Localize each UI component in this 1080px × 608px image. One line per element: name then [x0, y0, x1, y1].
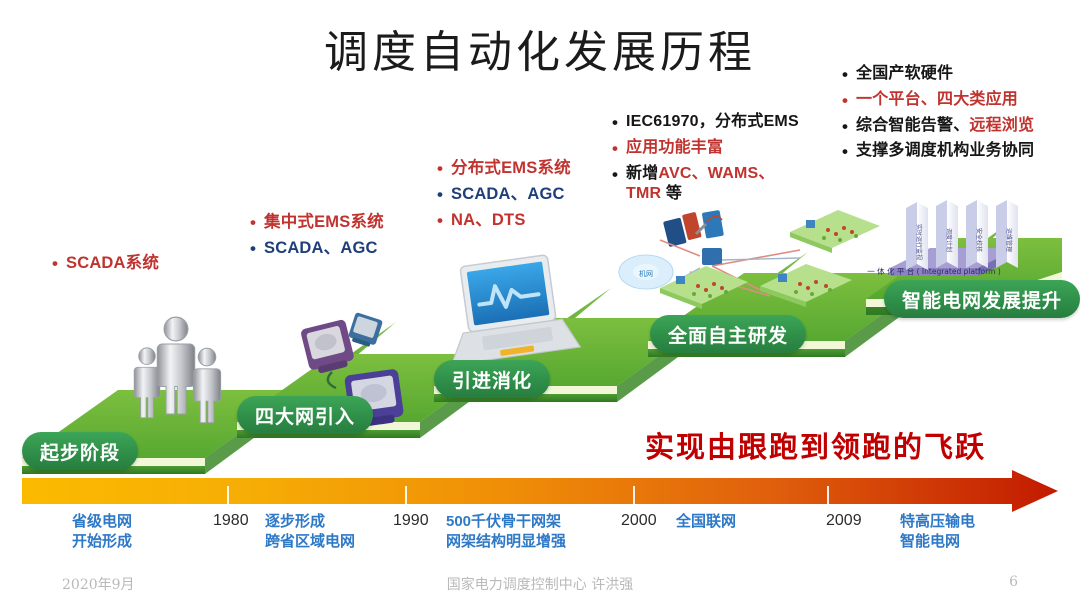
- timeline-caption-line: 网架结构明显增强: [446, 532, 566, 552]
- bullet-row: • 新增AVC、WAMS、TMR 等: [612, 164, 799, 205]
- slide-canvas: 调度自动化发展历程: [0, 0, 1080, 608]
- bullet-text-part: TMR: [626, 185, 666, 202]
- bullet-text: NA、DTS: [451, 210, 526, 231]
- bullet-text-part: 新增: [626, 165, 658, 182]
- bullet-dot: •: [842, 90, 856, 112]
- bullet-row: • SCADA系统: [52, 253, 159, 275]
- footer-org: 国家电力调度控制中心 许洪强: [0, 574, 1080, 594]
- bullet-text: SCADA、AGC: [264, 238, 378, 259]
- bullet-group-1: • SCADA系统: [52, 253, 159, 279]
- timeline-caption-5: 特高压输电 智能电网: [900, 512, 975, 553]
- stage-label-3[interactable]: 引进消化: [434, 360, 550, 398]
- stage-label-4[interactable]: 全面自主研发: [650, 315, 806, 353]
- bullet-text-part: 综合智能告警、: [856, 117, 969, 134]
- people-illustration: [134, 317, 221, 423]
- stage-label-2[interactable]: 四大网引入: [237, 396, 373, 434]
- stage-label-1[interactable]: 起步阶段: [22, 432, 138, 470]
- bullet-dot: •: [250, 212, 264, 234]
- bullet-text: 集中式EMS系统: [264, 212, 384, 233]
- slogan-text: 实现由跟跑到领跑的飞跃: [645, 424, 986, 466]
- bullet-row: • 集中式EMS系统: [250, 212, 384, 234]
- bullet-text: 一个平台、四大类应用: [856, 90, 1018, 110]
- svg-text:运维管理: 运维管理: [1005, 228, 1013, 252]
- timeline-caption-line: 省级电网: [72, 512, 132, 532]
- bullet-row: • 一个平台、四大类应用: [842, 90, 1034, 112]
- bullet-dot: •: [842, 64, 856, 86]
- bullet-row: • NA、DTS: [437, 210, 571, 232]
- bullet-row: • 全国产软硬件: [842, 64, 1034, 86]
- bullet-dot: •: [437, 184, 451, 206]
- bullet-text-part: 等: [666, 185, 682, 202]
- bullet-text-part: AVC、WAMS、: [658, 165, 774, 182]
- bullet-row: • IEC61970，分布式EMS: [612, 112, 799, 134]
- timeline-caption-line: 跨省区域电网: [265, 532, 355, 552]
- bullet-text: 支撑多调度机构业务协同: [856, 141, 1034, 161]
- bullet-group-4: • IEC61970，分布式EMS • 应用功能丰富 • 新增AVC、WAMS、…: [612, 112, 799, 208]
- bullet-group-5: • 全国产软硬件 • 一个平台、四大类应用 • 综合智能告警、远程浏览 • 支撑…: [842, 64, 1034, 167]
- svg-text:调度计划: 调度计划: [945, 228, 953, 252]
- svg-text:机网: 机网: [639, 269, 653, 278]
- timeline-caption-2: 逐步形成 跨省区域电网: [265, 512, 355, 553]
- timeline-caption-line: 特高压输电: [900, 512, 975, 532]
- bullet-row: • 综合智能告警、远程浏览: [842, 116, 1034, 138]
- bullet-dot: •: [612, 112, 626, 134]
- bullet-text: 全国产软硬件: [856, 64, 953, 84]
- timeline-caption-line: 智能电网: [900, 532, 975, 552]
- bullet-text: 应用功能丰富: [626, 138, 723, 158]
- bullet-dot: •: [842, 116, 856, 138]
- bullet-row: • 支撑多调度机构业务协同: [842, 141, 1034, 163]
- timeline-caption-3: 500千伏骨干网架 网架结构明显增强: [446, 512, 566, 553]
- platform-base-label: 一 体 化 平 台 ( Integrated platform ): [867, 266, 1001, 276]
- stage-label-5[interactable]: 智能电网发展提升: [884, 280, 1080, 318]
- timeline-caption-line: 开始形成: [72, 532, 132, 552]
- timeline-year-1990: 1990: [393, 512, 429, 530]
- bullet-text: 综合智能告警、远程浏览: [856, 116, 1034, 136]
- timeline-year-2009: 2009: [826, 512, 862, 530]
- timeline-year-2000: 2000: [621, 512, 657, 530]
- bullet-dot: •: [612, 138, 626, 160]
- svg-text:实时运行监视: 实时运行监视: [915, 224, 923, 260]
- footer-page-number: 6: [1009, 574, 1018, 590]
- timeline-caption-4: 全国联网: [676, 512, 736, 532]
- svg-text:安全校核: 安全校核: [975, 228, 983, 252]
- bullet-dot: •: [612, 164, 626, 186]
- bullet-row: • SCADA、AGC: [250, 238, 384, 260]
- bullet-group-2: • 集中式EMS系统 • SCADA、AGC: [250, 212, 384, 264]
- bullet-text: 新增AVC、WAMS、TMR 等: [626, 164, 775, 205]
- bullet-text: SCADA、AGC: [451, 184, 565, 205]
- timeline-caption-line: 500千伏骨干网架: [446, 512, 566, 532]
- timeline-caption-1: 省级电网 开始形成: [72, 512, 132, 553]
- laptop-illustration: [438, 252, 580, 365]
- timeline-caption-line: 全国联网: [676, 512, 736, 532]
- bullet-text: 分布式EMS系统: [451, 158, 571, 179]
- bullet-row: • SCADA、AGC: [437, 184, 571, 206]
- bullet-dot: •: [842, 141, 856, 163]
- bullet-dot: •: [437, 210, 451, 232]
- timeline-year-1980: 1980: [213, 512, 249, 530]
- bullet-dot: •: [52, 253, 66, 275]
- bullet-text: IEC61970，分布式EMS: [626, 112, 799, 132]
- network-topology-illustration: 机网: [619, 210, 880, 309]
- bullet-row: • 分布式EMS系统: [437, 158, 571, 180]
- bullet-text: SCADA系统: [66, 253, 159, 274]
- bullet-dot: •: [250, 238, 264, 260]
- bullet-group-3: • 分布式EMS系统 • SCADA、AGC • NA、DTS: [437, 158, 571, 235]
- bullet-dot: •: [437, 158, 451, 180]
- bullet-text-part: 远程浏览: [969, 117, 1034, 134]
- slide-footer: 2020年9月 国家电力调度控制中心 许洪强 6: [0, 574, 1080, 596]
- bullet-row: • 应用功能丰富: [612, 138, 799, 160]
- timeline-caption-line: 逐步形成: [265, 512, 355, 532]
- timeline-arrow: [22, 470, 1058, 512]
- integrated-platform-illustration: 一 体 化 平 台 ( Integrated platform ) 实时运行监视…: [867, 200, 1018, 276]
